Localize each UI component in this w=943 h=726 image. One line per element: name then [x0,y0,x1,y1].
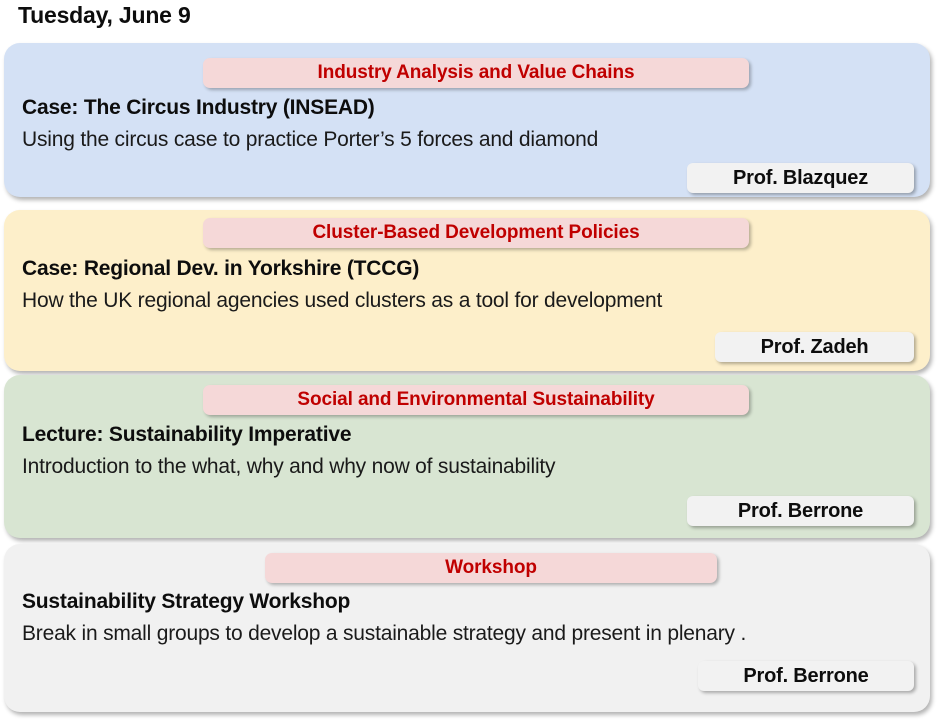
session-category-tag: Cluster-Based Development Policies [203,218,749,248]
session-category-label: Cluster-Based Development Policies [312,222,639,244]
session-title: Lecture: Sustainability Imperative [22,423,351,447]
session-instructor-name: Prof. Berrone [738,500,863,523]
session-title: Case: Regional Dev. in Yorkshire (TCCG) [22,257,419,281]
session-instructor-badge: Prof. Berrone [687,496,914,526]
session-instructor-name: Prof. Zadeh [761,336,869,359]
session-instructor-badge: Prof. Zadeh [715,332,914,362]
session-description: Break in small groups to develop a susta… [22,620,912,648]
session-category-label: Social and Environmental Sustainability [297,389,654,411]
session-category-label: Workshop [445,557,537,579]
session-card[interactable]: Social and Environmental Sustainability … [4,375,930,538]
session-title: Sustainability Strategy Workshop [22,590,350,614]
session-instructor-name: Prof. Berrone [743,665,868,688]
session-category-tag: Workshop [265,553,717,583]
page-title: Tuesday, June 9 [18,2,191,29]
session-title: Case: The Circus Industry (INSEAD) [22,96,375,120]
session-description: How the UK regional agencies used cluste… [22,287,912,315]
session-description: Using the circus case to practice Porter… [22,126,912,154]
session-category-tag: Industry Analysis and Value Chains [203,58,749,88]
session-description: Introduction to the what, why and why no… [22,453,912,481]
schedule-day-panel: Tuesday, June 9 Industry Analysis and Va… [0,0,943,726]
session-category-label: Industry Analysis and Value Chains [318,62,635,84]
session-card[interactable]: Industry Analysis and Value Chains Case:… [4,43,930,197]
session-card[interactable]: Workshop Sustainability Strategy Worksho… [4,544,930,712]
session-instructor-name: Prof. Blazquez [733,167,868,190]
session-category-tag: Social and Environmental Sustainability [203,385,749,415]
session-instructor-badge: Prof. Blazquez [687,163,914,193]
session-card[interactable]: Cluster-Based Development Policies Case:… [4,210,930,371]
session-instructor-badge: Prof. Berrone [698,661,914,691]
